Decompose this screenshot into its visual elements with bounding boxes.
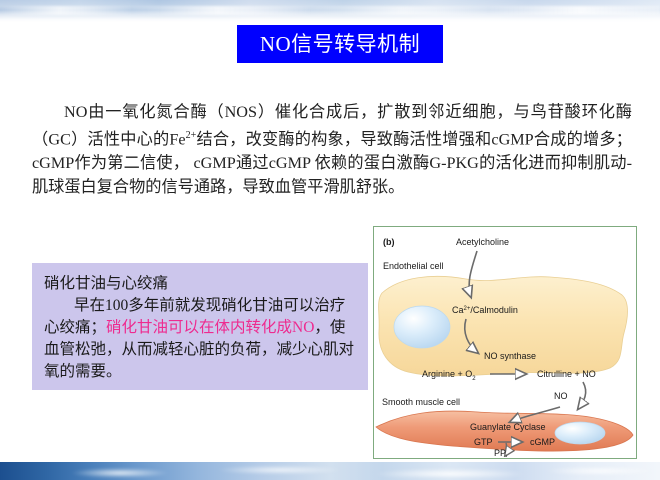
- label-acetylcholine: Acetylcholine: [456, 237, 509, 247]
- endothelial-nucleus: [394, 306, 450, 348]
- label-endothelial-cell: Endothelial cell: [383, 261, 444, 271]
- fe-superscript: 2+: [186, 130, 197, 141]
- arrow-no-diffusion: [578, 382, 586, 409]
- callout-body: 早在100多年前就发现硝化甘油可以治疗心绞痛；硝化甘油可以在体内转化成NO，使血…: [44, 295, 358, 383]
- label-guanylate-cyclase: Guanylate Cyclase: [470, 422, 546, 432]
- callout-highlight-text: 硝化甘油可以在体内转化成NO: [106, 319, 314, 336]
- callout-heading: 硝化甘油与心绞痛: [44, 273, 358, 295]
- label-citrulline-no: Citrulline + NO: [537, 369, 596, 379]
- smooth-muscle-nucleus: [555, 422, 605, 444]
- page-title: NO信号转导机制: [260, 34, 420, 55]
- label-cgmp: cGMP: [530, 437, 555, 447]
- sky-band-top-decoration: [0, 0, 660, 22]
- label-ca-calmodulin: Ca2+/Calmodulin: [452, 305, 518, 315]
- slide-canvas: NO信号转导机制 NO由一氧化氮合酶（NOS）催化合成后，扩散到邻近细胞，与鸟苷…: [0, 0, 660, 480]
- label-smooth-muscle-cell: Smooth muscle cell: [382, 397, 460, 407]
- callout-box-nitroglycerin: 硝化甘油与心绞痛 早在100多年前就发现硝化甘油可以治疗心绞痛；硝化甘油可以在体…: [32, 263, 368, 390]
- figure-no-signaling-diagram: (b) Endothelial cell Acetylcholine Ca2+/…: [373, 226, 637, 459]
- label-no-synthase: NO synthase: [484, 351, 536, 361]
- label-gtp: GTP: [474, 437, 493, 447]
- label-arginine: Arginine + O2: [422, 369, 476, 382]
- figure-svg: (b) Endothelial cell Acetylcholine Ca2+/…: [374, 227, 635, 457]
- label-ppi: PPi: [494, 448, 507, 457]
- main-paragraph: NO由一氧化氮合酶（NOS）催化合成后，扩散到邻近细胞，与鸟苷酸环化酶（GC）活…: [32, 100, 632, 199]
- label-no: NO: [554, 391, 568, 401]
- slide-title-box: NO信号转导机制: [237, 25, 443, 63]
- sky-band-bottom-decoration: [0, 462, 660, 480]
- figure-panel-label: (b): [383, 237, 395, 247]
